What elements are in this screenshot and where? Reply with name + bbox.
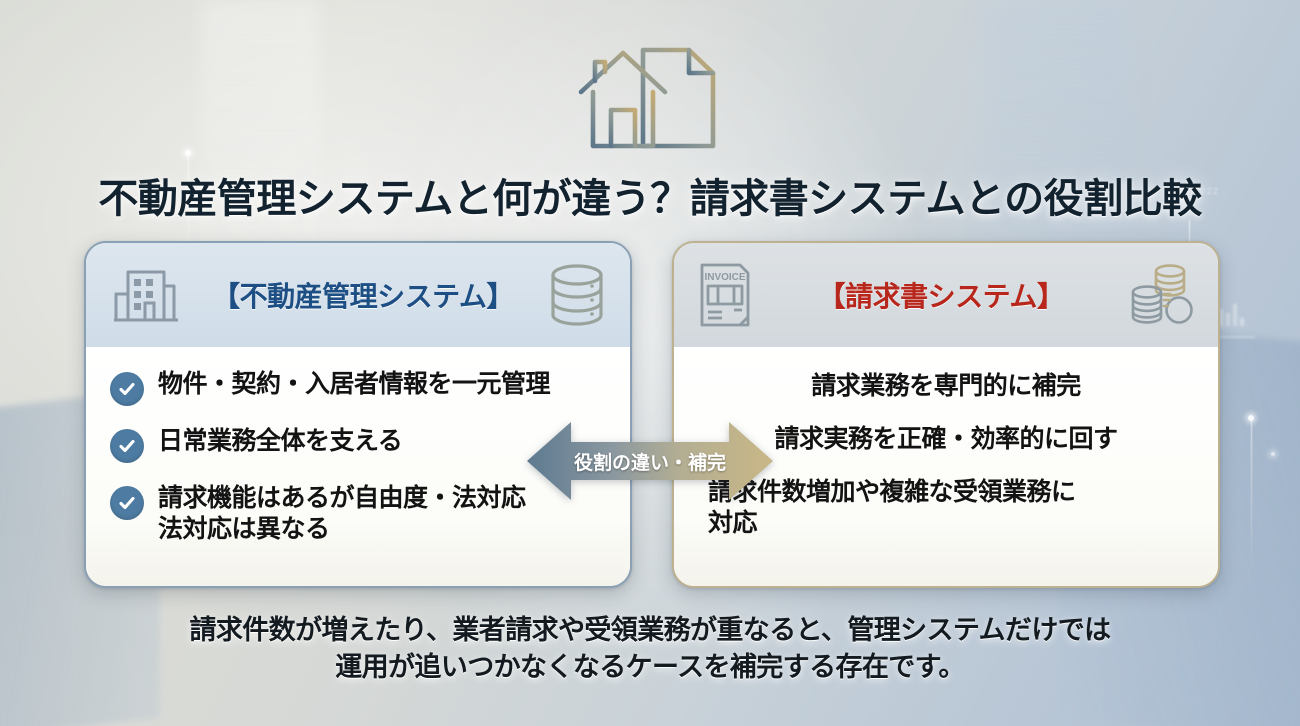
background-hairline <box>1251 418 1252 568</box>
check-circle-icon <box>110 429 144 463</box>
list-item-label: 物件・契約・入居者情報を一元管理 <box>158 369 550 400</box>
caption-line-2: 運用が追いつかなくなるケースを補完する存在です。 <box>0 649 1300 686</box>
card-right-header: INVOICE 【請求書システム】 <box>674 243 1218 347</box>
card-left-title: 【不動産管理システム】 <box>180 275 546 315</box>
check-circle-icon <box>110 372 144 406</box>
background-light-dot <box>1271 452 1275 456</box>
card-invoice-system[interactable]: INVOICE 【請求書システム】 <box>672 241 1220 588</box>
office-building-icon <box>108 262 180 328</box>
invoice-document-icon: INVOICE <box>696 260 754 330</box>
double-arrow-badge: 役割の違い・補完 <box>527 418 773 504</box>
background-light-dot <box>1248 415 1254 421</box>
bottom-caption: 請求件数が増えたり、業者請求や受領業務が重なると、管理システムだけでは 運用が追… <box>0 612 1300 687</box>
double-arrow-label: 役割の違い・補完 <box>527 418 773 504</box>
slide-canvas: 21.2022 2 <box>0 0 1300 726</box>
invoice-icon-label: INVOICE <box>704 272 745 283</box>
caption-line-1: 請求件数が増えたり、業者請求や受領業務が重なると、管理システムだけでは <box>0 612 1300 649</box>
database-icon <box>546 260 608 330</box>
coins-stack-icon <box>1128 260 1196 330</box>
comparison-cards: 【不動産管理システム】 <box>84 241 1220 588</box>
top-icon-container <box>0 34 1300 152</box>
house-document-icon <box>565 34 735 152</box>
page-title: 不動産管理システムと何が違う？請求書システムとの役割比較 <box>0 166 1300 224</box>
list-item-label: 請求機能はあるが自由度・法対応 法対応は異なる <box>110 483 526 545</box>
list-item-label: 日常業務全体を支える <box>158 426 402 457</box>
list-item-label: 請求業務を専門的に補完 <box>698 371 1194 402</box>
card-left-header: 【不動産管理システム】 <box>86 243 630 347</box>
card-property-management-system[interactable]: 【不動産管理システム】 <box>84 241 632 588</box>
card-right-title: 【請求書システム】 <box>754 275 1128 315</box>
list-item: 物件・契約・入居者情報を一元管理 <box>110 369 606 406</box>
